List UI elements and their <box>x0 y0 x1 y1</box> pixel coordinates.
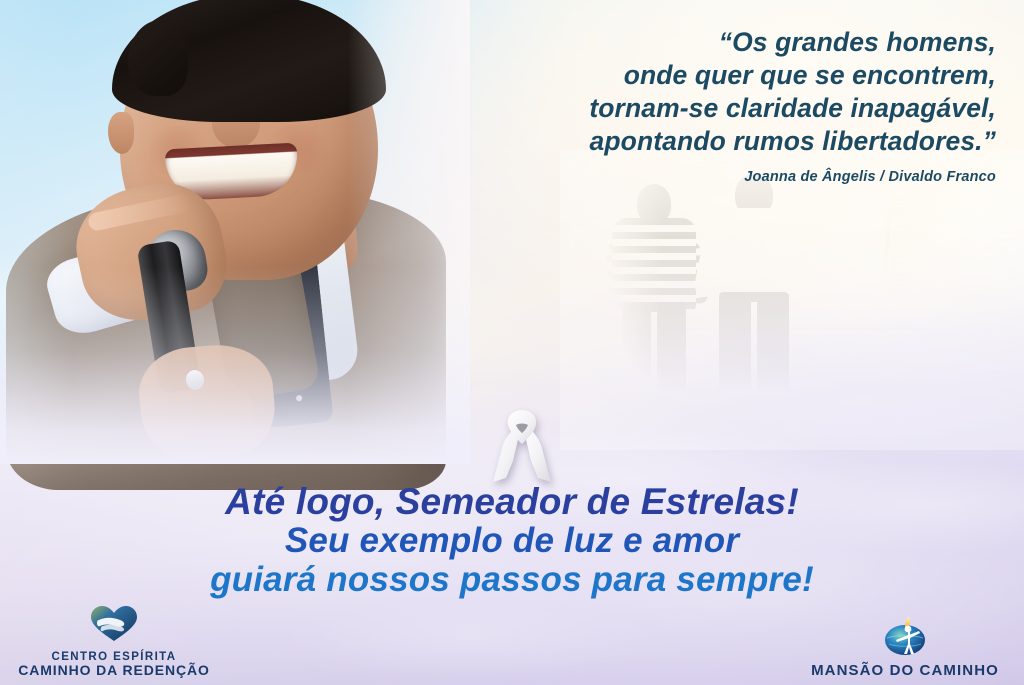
logo-right-line-1: MANSÃO DO CAMINHO <box>811 664 999 677</box>
faded-photo-scene <box>560 150 1024 450</box>
portrait-second-hand <box>135 340 278 463</box>
portrait-ear <box>108 112 134 154</box>
portrait-hair <box>112 0 386 122</box>
logo-left-text: CENTRO ESPÍRITA CAMINHO DA REDENÇÃO <box>18 651 210 677</box>
scene-fade-overlay <box>560 150 1024 450</box>
memorial-poster: “Os grandes homens, onde quer que se enc… <box>0 0 1024 685</box>
headline-line-3: guiará nossos passos para sempre! <box>0 560 1024 599</box>
mourning-ribbon-icon <box>489 408 555 490</box>
logo-left-line-2: CAMINHO DA REDENÇÃO <box>18 664 210 677</box>
logo-centro-espirita: CENTRO ESPÍRITA CAMINHO DA REDENÇÃO <box>16 605 212 677</box>
quote-attribution: Joanna de Ângelis / Divaldo Franco <box>376 169 996 185</box>
logo-right-text: MANSÃO DO CAMINHO <box>811 664 999 677</box>
headline-line-1: Até logo, Semeador de Estrelas! <box>0 482 1024 521</box>
quote-line-1: “Os grandes homens, <box>376 26 996 59</box>
quote-block: “Os grandes homens, onde quer que se enc… <box>376 26 996 185</box>
logo-mansao-do-caminho: MANSÃO DO CAMINHO <box>800 614 1010 677</box>
heart-with-hands-icon <box>89 605 139 648</box>
headline-block: Até logo, Semeador de Estrelas! Seu exem… <box>0 482 1024 599</box>
headline-line-2: Seu exemplo de luz e amor <box>0 521 1024 560</box>
quote-line-3: tornam-se claridade inapagável, <box>376 92 996 125</box>
quote-line-2: onde quer que se encontrem, <box>376 59 996 92</box>
globe-with-figure-and-flame-icon <box>879 614 931 661</box>
quote-line-4: apontando rumos libertadores.” <box>376 125 996 158</box>
